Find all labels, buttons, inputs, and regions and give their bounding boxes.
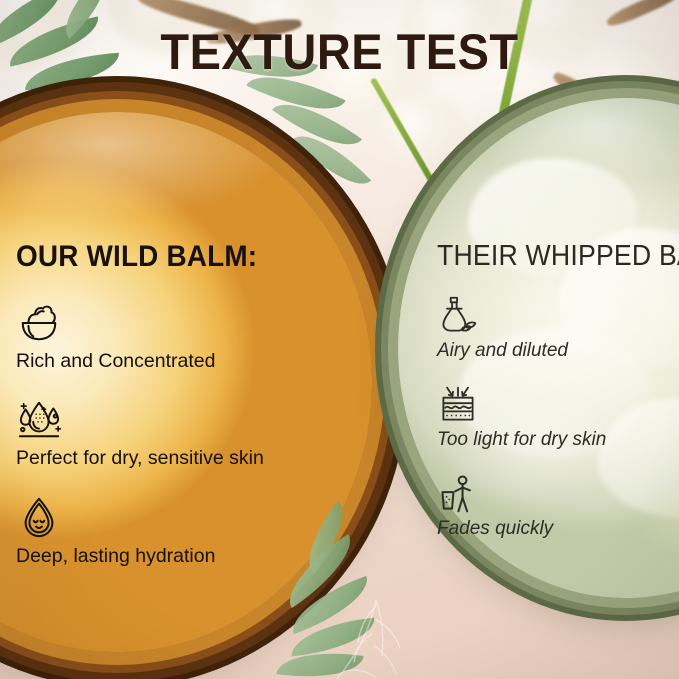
left-feature-item: Deep, lasting hydration (16, 495, 346, 567)
water-droplets-sparkle-icon (16, 397, 62, 441)
left-feature-label: Deep, lasting hydration (16, 545, 346, 567)
left-column-heading: OUR WILD BALM: (16, 240, 323, 274)
right-feature-label: Fades quickly (437, 518, 679, 540)
right-feature-label: Too light for dry skin (437, 429, 679, 451)
right-feature-item: Too light for dry skin (437, 384, 679, 451)
product-comparison-graphic: TEXTURE TEST OUR WILD BALM: Rich and Con… (0, 0, 679, 679)
left-column: OUR WILD BALM: Rich and Concentrated (16, 240, 346, 592)
right-feature-item: Fades quickly (437, 473, 679, 540)
left-feature-item: Rich and Concentrated (16, 300, 346, 372)
left-feature-item: Perfect for dry, sensitive skin (16, 397, 346, 469)
left-feature-label: Rich and Concentrated (16, 350, 346, 372)
person-throwing-trash-icon (437, 473, 479, 515)
right-column: THEIR WHIPPED BALM... Airy and diluted (437, 240, 679, 562)
skin-layers-absorption-icon (437, 384, 479, 426)
oil-bottle-leaves-icon (437, 295, 479, 337)
bowl-of-cream-icon (16, 300, 62, 344)
right-feature-label: Airy and diluted (437, 340, 679, 362)
right-column-heading: THEIR WHIPPED BALM... (437, 240, 660, 273)
smiling-droplet-icon (16, 495, 62, 539)
left-feature-label: Perfect for dry, sensitive skin (16, 447, 346, 469)
right-feature-item: Airy and diluted (437, 295, 679, 362)
page-title: TEXTURE TEST (20, 23, 658, 81)
